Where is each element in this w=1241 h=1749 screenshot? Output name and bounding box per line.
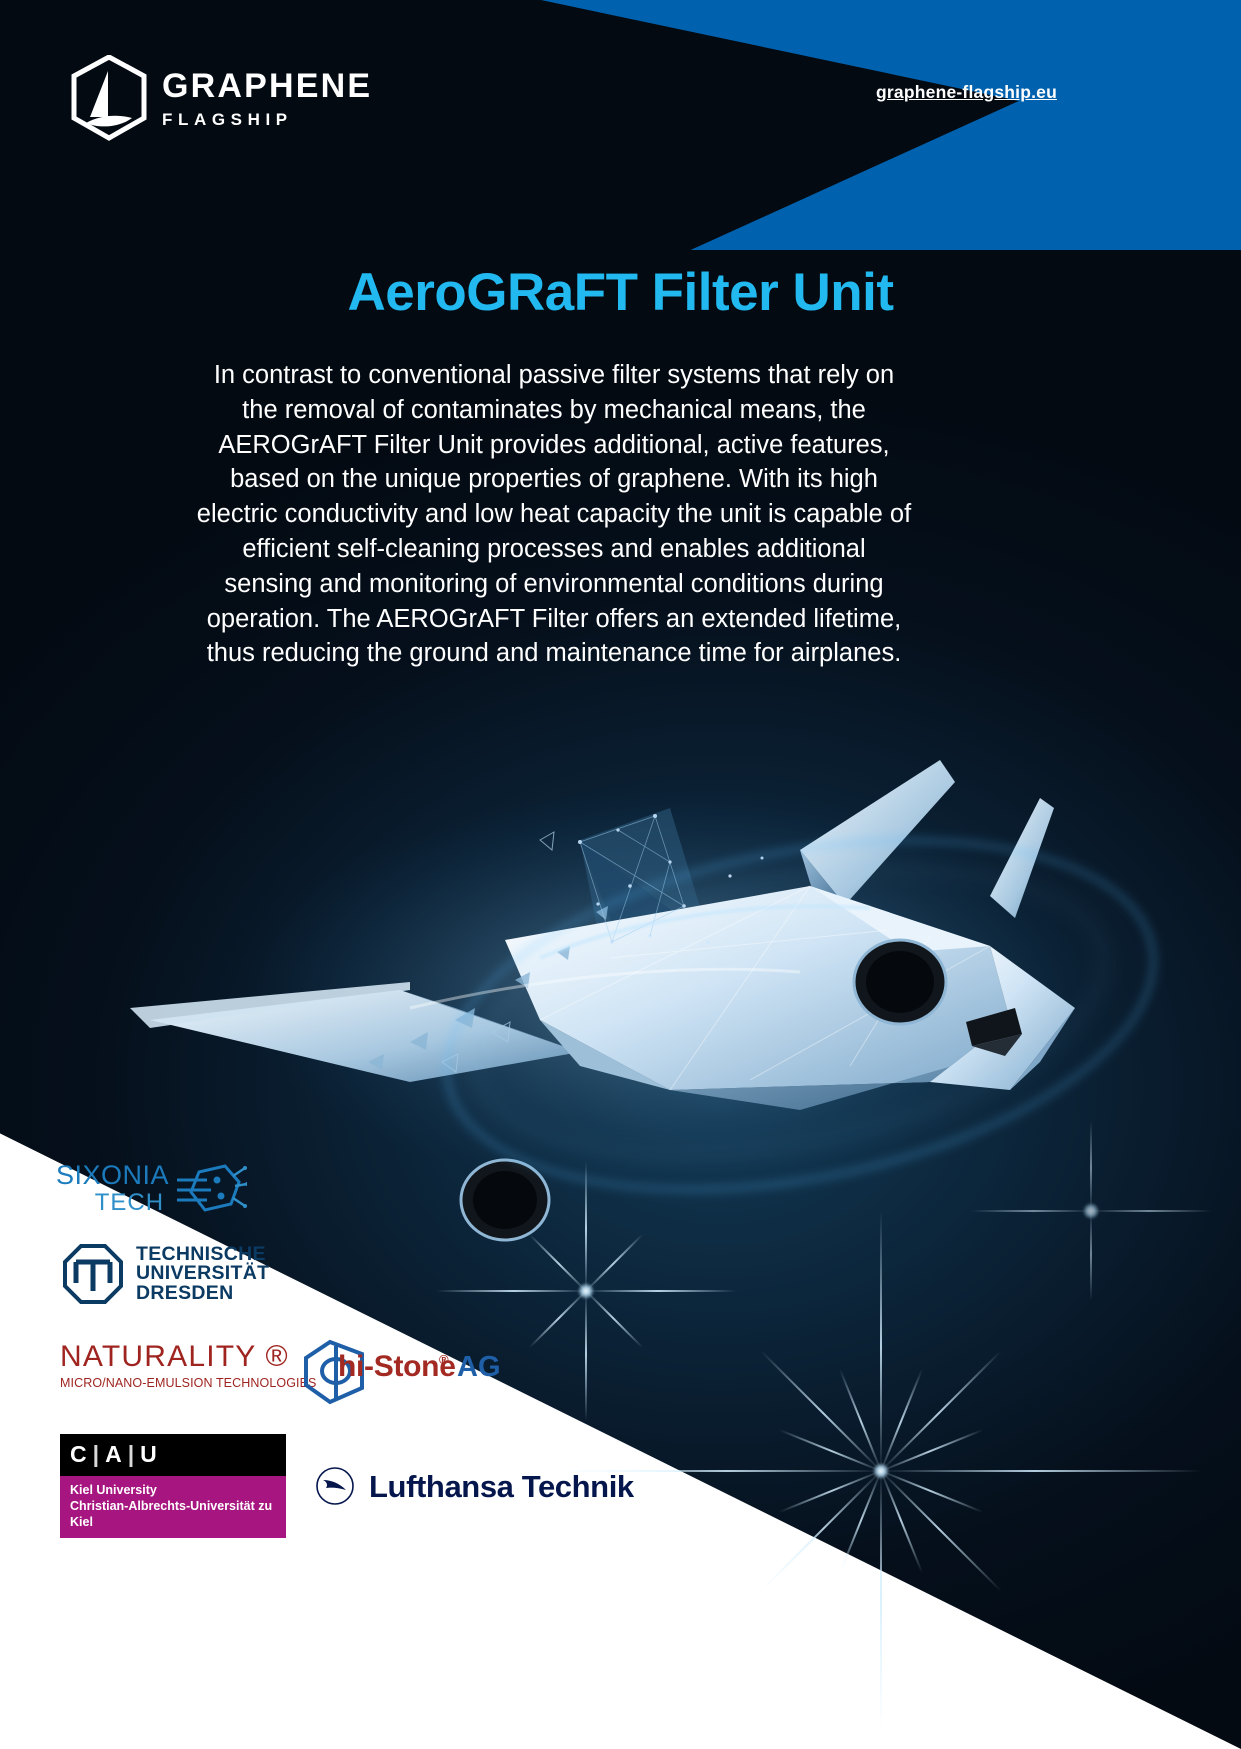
body-paragraph: In contrast to conventional passive filt… <box>196 358 912 671</box>
cau-line2: Christian-Albrechts-Universität zu Kiel <box>70 1498 276 1530</box>
airplane-illustration <box>110 690 1110 1250</box>
partner-logo-sixonia-tech: SIXONIA TECH <box>56 1162 247 1216</box>
graphene-flagship-hexagon-sail-logo <box>70 55 148 141</box>
starburst-large <box>880 1470 882 1472</box>
tud-line3: DRESDEN <box>136 1284 269 1304</box>
sixonia-line2: TECH <box>95 1190 164 1216</box>
naturality-tagline: MICRO/NANO-EMULSION TECHNOLOGIES <box>60 1377 316 1390</box>
cau-monogram: C | A | U <box>60 1434 286 1476</box>
brand-name-primary: GRAPHENE <box>162 69 372 103</box>
sixonia-circuit-hexagon-icon <box>177 1162 247 1216</box>
partner-logo-tu-dresden: TECHNISCHE UNIVERSITÄT DRESDEN <box>62 1243 269 1305</box>
phi-stone-registered-mark: ® <box>439 1352 449 1367</box>
tu-dresden-octagon-icon <box>62 1243 124 1305</box>
partner-logo-naturality: NATURALITY ® MICRO/NANO-EMULSION TECHNOL… <box>60 1342 316 1390</box>
page-title: AeroGRaFT Filter Unit <box>0 262 1241 323</box>
cau-divider-2: | <box>123 1441 140 1468</box>
cau-letter-a: A <box>105 1441 123 1468</box>
sixonia-line1: SIXONIA <box>56 1162 169 1189</box>
partner-logo-cau-kiel: C | A | U Kiel University Christian-Albr… <box>60 1434 286 1538</box>
tud-line2: UNIVERSITÄT <box>136 1264 269 1284</box>
lufthansa-technik-wordmark: Lufthansa Technik <box>369 1471 634 1502</box>
partner-logo-phi-stone-ag: hi-Stone ® AG <box>300 1338 510 1408</box>
phi-stone-wordmark: hi-Stone <box>338 1352 456 1382</box>
brand-name-secondary: FLAGSHIP <box>162 111 372 128</box>
website-link[interactable]: graphene-flagship.eu <box>876 82 1057 103</box>
cau-line1: Kiel University <box>70 1482 276 1498</box>
naturality-wordmark: NATURALITY ® <box>60 1342 316 1372</box>
cau-letter-c: C <box>70 1441 88 1468</box>
phi-stone-suffix: AG <box>457 1353 501 1382</box>
lufthansa-crane-icon <box>315 1466 355 1506</box>
starburst-small <box>585 1290 587 1292</box>
brand-logo: GRAPHENE FLAGSHIP <box>70 55 372 141</box>
poster-page: GRAPHENE FLAGSHIP graphene-flagship.eu A… <box>0 0 1241 1749</box>
partner-logo-lufthansa-technik: Lufthansa Technik <box>315 1466 634 1506</box>
cau-divider-1: | <box>88 1441 105 1468</box>
cau-letter-u: U <box>140 1441 158 1468</box>
